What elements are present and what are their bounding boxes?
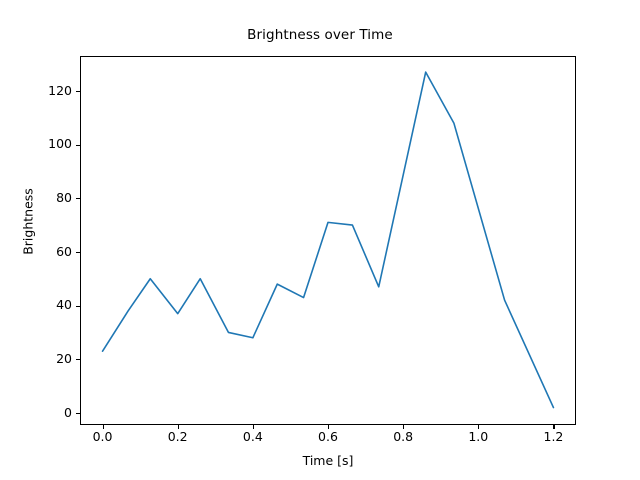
y-tick-label: 40 [32,299,72,312]
x-tick-mark [553,425,554,429]
x-tick-mark [103,425,104,429]
y-tick-label: 60 [32,246,72,259]
x-tick-mark [253,425,254,429]
y-tick-label: 80 [32,192,72,205]
y-tick-label: 20 [32,353,72,366]
x-tick-label: 1.0 [448,431,508,444]
x-tick-mark [178,425,179,429]
x-tick-label: 0.6 [298,431,358,444]
y-tick-label: 100 [32,138,72,151]
brightness-data-line [103,72,554,407]
x-tick-label: 0.0 [73,431,133,444]
x-axis-label: Time [s] [80,453,576,468]
y-tick-label: 0 [32,407,72,420]
y-tick-mark [76,145,80,146]
page-title: Brightness over Time [0,27,640,43]
line-chart-canvas [80,56,576,425]
x-tick-label: 1.2 [523,431,583,444]
y-tick-mark [76,306,80,307]
y-axis-label: Brightness [21,142,36,302]
y-tick-mark [76,91,80,92]
y-tick-mark [76,359,80,360]
matplotlib-figure: Brightness over Time 020406080100120 0.0… [0,0,640,480]
x-tick-label: 0.4 [223,431,283,444]
y-tick-mark [76,198,80,199]
x-tick-mark [478,425,479,429]
x-tick-label: 0.2 [148,431,208,444]
y-tick-mark [76,252,80,253]
x-tick-label: 0.8 [373,431,433,444]
x-tick-mark [328,425,329,429]
x-tick-mark [403,425,404,429]
y-tick-mark [76,413,80,414]
y-tick-label: 120 [32,85,72,98]
